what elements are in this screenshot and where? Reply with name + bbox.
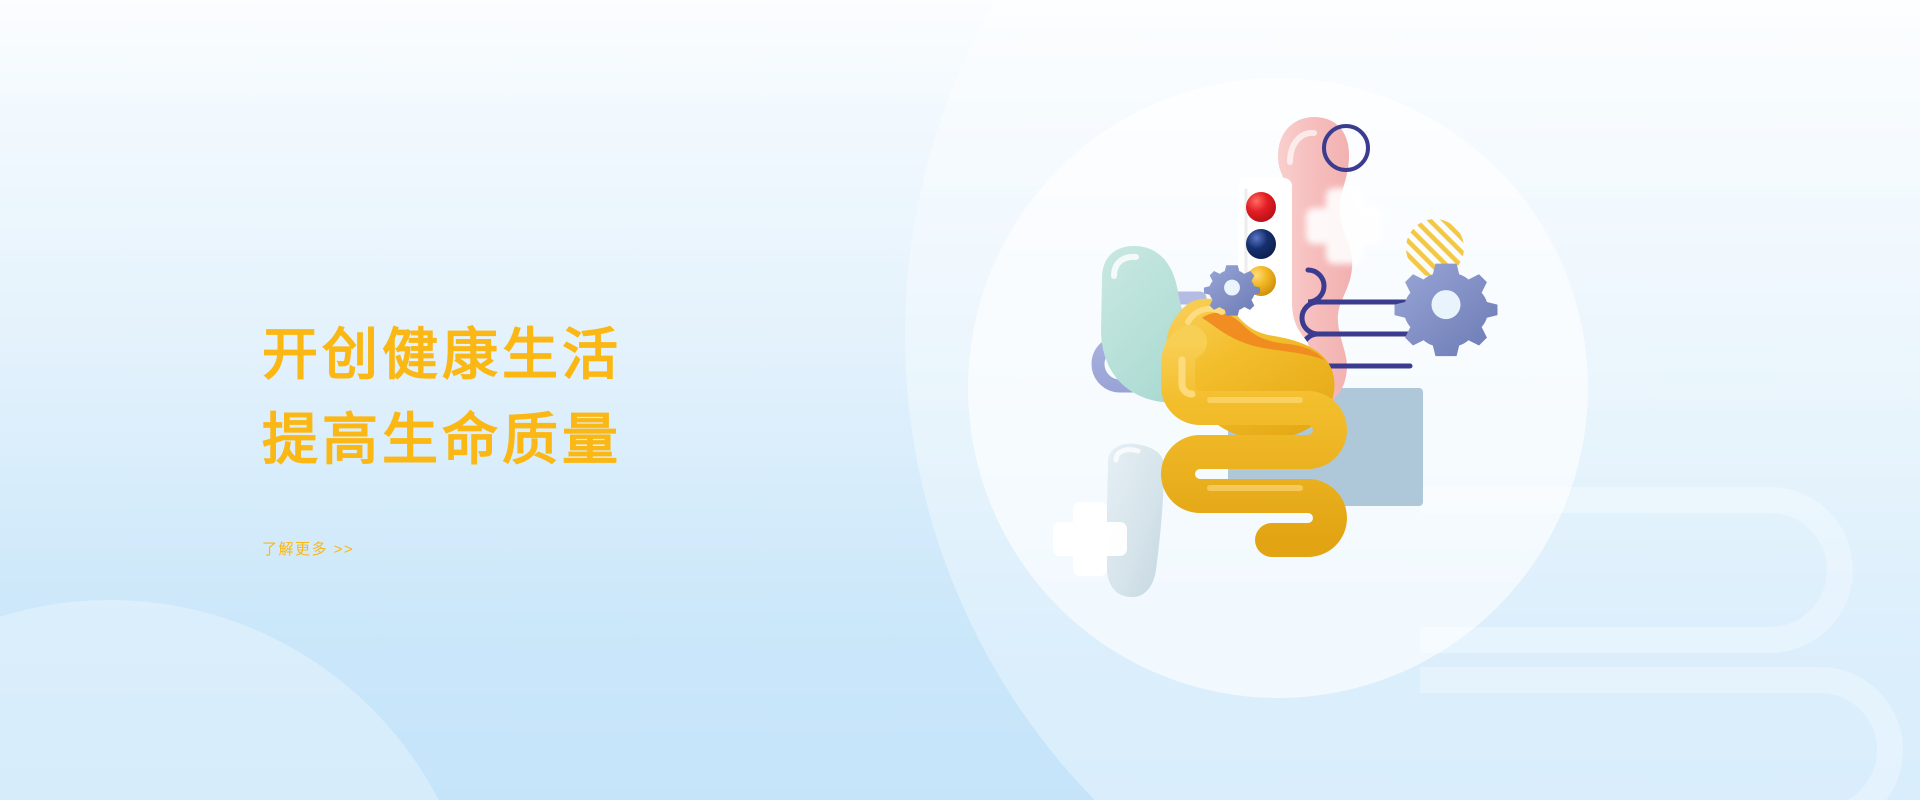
hero-copy: 开创健康生活 提高生命质量 了解更多 >> [262, 312, 902, 559]
page-title-line-2: 提高生命质量 [262, 397, 902, 482]
pill-navy [1246, 229, 1276, 259]
gear-icon-small [1204, 265, 1260, 315]
gear-icon-large [1395, 264, 1498, 356]
digestive-system-illustration [1050, 70, 1610, 690]
page-title-line-1: 开创健康生活 [262, 312, 902, 397]
bladder-organ [1106, 444, 1164, 597]
pill-red [1246, 192, 1276, 222]
hero-banner: 开创健康生活 提高生命质量 了解更多 >> [0, 0, 1920, 800]
background-circle-bottom-left [0, 600, 480, 800]
learn-more-link[interactable]: 了解更多 >> [262, 538, 354, 559]
